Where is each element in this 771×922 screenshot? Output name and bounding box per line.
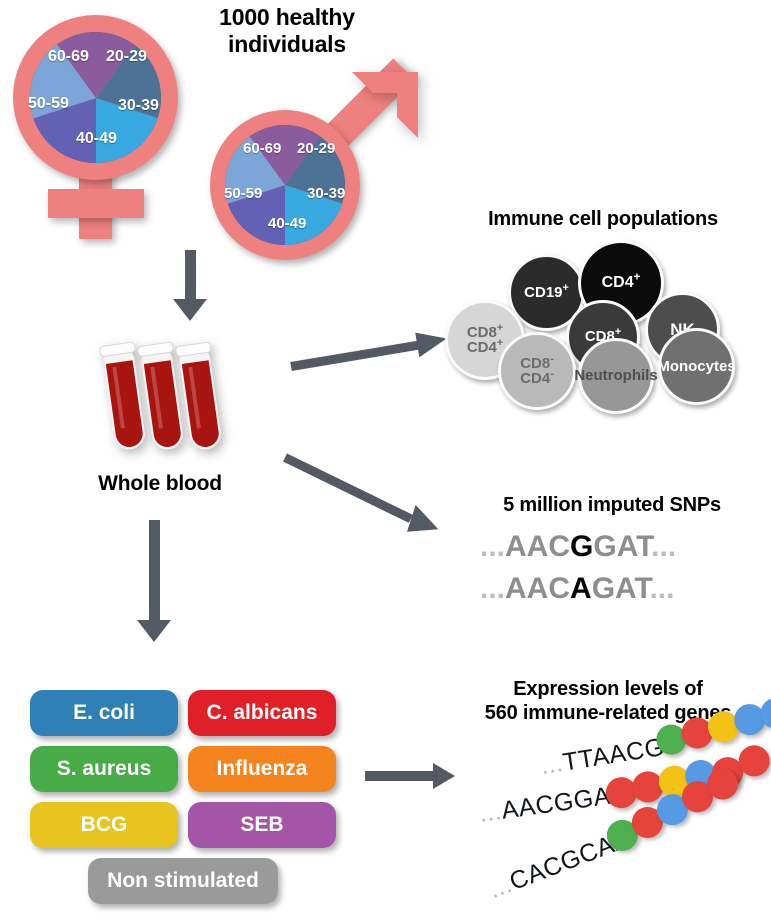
snp-right: GAT	[593, 530, 651, 563]
pie-label-40-49: 40-49	[76, 130, 117, 148]
pie-label-20-29-male: 20-29	[297, 140, 335, 157]
pie-label-40-49-male: 40-49	[268, 215, 306, 232]
snp-sequence-row: ...AACGGAT...	[480, 530, 676, 564]
stimulus-label: Influenza	[216, 757, 307, 781]
immune-cell-label: CD4+	[602, 275, 641, 291]
arrow-shaft	[365, 771, 437, 781]
stimulus-seb[interactable]: SEB	[188, 802, 336, 848]
snp-prefix: ...	[480, 572, 505, 605]
immune-cell-neutrophils: Neutrophils	[578, 338, 654, 414]
arrow-shaft	[149, 520, 160, 623]
snp-right: GAT	[592, 572, 650, 605]
stimulus-e-coli[interactable]: E. coli	[30, 690, 178, 736]
immune-cell-cluster: CD19+ CD4+ NK CD8+CD4+ CD8+ Monocytes CD…	[440, 240, 771, 410]
snp-suffix: ...	[649, 572, 674, 605]
page-title-cohort: 1000 healthy individuals	[178, 4, 396, 58]
immune-cell-label: Monocytes	[657, 359, 735, 374]
female-symbol: 20-29 30-39 40-49 50-59 60-69	[8, 12, 188, 242]
immune-cell-label: CD19+	[524, 285, 569, 300]
stimulus-label: Non stimulated	[107, 869, 259, 893]
section-title-immune: Immune cell populations	[448, 208, 758, 232]
arrow-shaft	[283, 453, 413, 522]
stimulus-label: C. albicans	[207, 701, 318, 725]
stimulus-s-aureus[interactable]: S. aureus	[30, 746, 178, 792]
arrow-shaft	[185, 250, 196, 302]
arrow-shaft	[290, 340, 425, 371]
immune-cell-label: CD8+CD4+	[467, 325, 503, 356]
gene-strands: ...TTAACGG ...AACGGAT ...CACGCAA	[460, 740, 771, 920]
stimulus-label: SEB	[240, 813, 283, 837]
snp-variant-base: A	[570, 572, 592, 605]
snp-variant-base: G	[570, 530, 593, 563]
arrow-head-icon	[433, 763, 455, 789]
arrow-head-icon	[173, 299, 207, 321]
immune-cell-cd8neg-cd4neg: CD8-CD4-	[498, 332, 576, 410]
stimulus-non-stimulated[interactable]: Non stimulated	[88, 858, 278, 904]
snp-sequences: ...AACGGAT... ...AACAGAT...	[480, 530, 760, 620]
immune-cell-label: CD8-CD4-	[520, 356, 554, 387]
cohort-title-line1: 1000 healthy	[178, 4, 396, 31]
stimulus-c-albicans[interactable]: C. albicans	[188, 690, 336, 736]
stimuli-panel: E. coli C. albicans S. aureus Influenza …	[30, 690, 350, 900]
snp-prefix: ...	[480, 530, 505, 563]
stimulus-bcg[interactable]: BCG	[30, 802, 178, 848]
pie-label-20-29: 20-29	[106, 48, 147, 66]
snp-left: AAC	[505, 530, 570, 563]
cohort-title-line2: individuals	[178, 31, 396, 58]
snp-sequence-row: ...AACAGAT...	[480, 572, 674, 606]
pie-label-50-59: 50-59	[28, 95, 69, 113]
gene-sequence-text: ...AACGGAT	[478, 780, 627, 829]
stimulus-label: E. coli	[73, 701, 135, 725]
arrow-head-icon	[408, 508, 444, 544]
stimulus-influenza[interactable]: Influenza	[188, 746, 336, 792]
male-symbol: 20-29 30-39 40-49 50-59 60-69	[208, 78, 438, 263]
section-title-snps: 5 million imputed SNPs	[462, 494, 762, 518]
pie-label-60-69-male: 60-69	[243, 140, 281, 157]
pie-label-30-39-male: 30-39	[307, 185, 345, 202]
label-whole-blood: Whole blood	[60, 472, 260, 497]
stimulus-label: S. aureus	[57, 757, 152, 781]
pie-label-50-59-male: 50-59	[224, 185, 262, 202]
immune-cell-label: Neutrophils	[574, 368, 657, 383]
blood-tubes	[95, 340, 225, 455]
pie-label-60-69: 60-69	[48, 48, 89, 66]
expression-title-line1: Expression levels of	[452, 678, 764, 702]
snp-left: AAC	[505, 572, 570, 605]
immune-cell-monocytes: Monocytes	[658, 328, 735, 405]
stimulus-label: BCG	[81, 813, 128, 837]
snp-suffix: ...	[651, 530, 676, 563]
male-symbol-arrowhead	[346, 64, 436, 154]
arrow-head-icon	[137, 620, 171, 642]
pie-label-30-39: 30-39	[118, 97, 159, 115]
female-symbol-crossbar	[48, 189, 144, 218]
